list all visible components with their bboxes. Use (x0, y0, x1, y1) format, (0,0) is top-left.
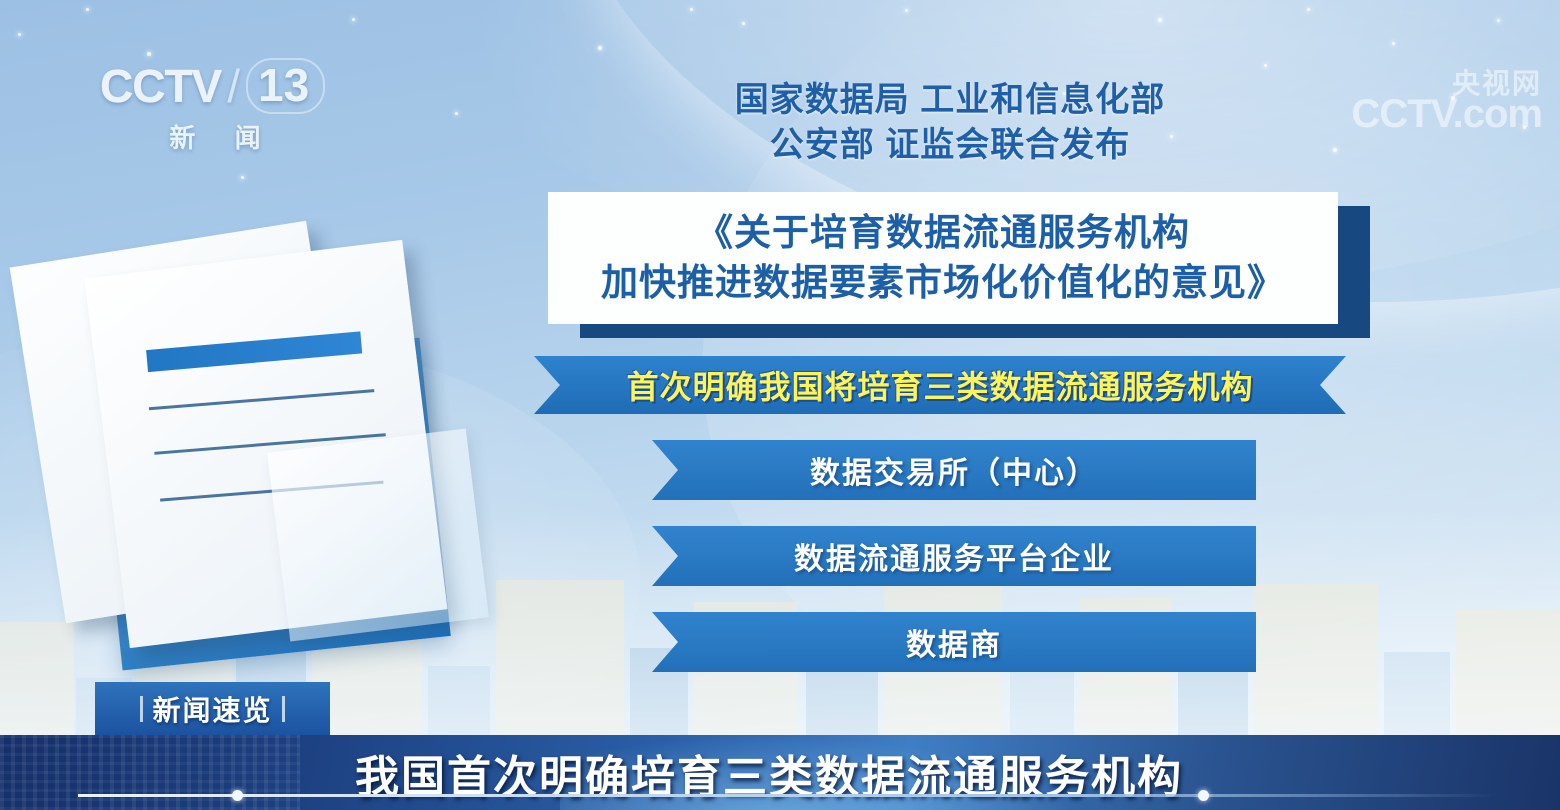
document-title-line-1: 《关于培育数据流通服务机构 (696, 208, 1190, 258)
sparkle-star (1333, 148, 1337, 152)
issuer-heading: 国家数据局 工业和信息化部 公安部 证监会联合发布 (620, 78, 1280, 168)
document-text-line (149, 389, 375, 410)
channel-slash: / (227, 59, 240, 113)
title-card-body: 《关于培育数据流通服务机构 加快推进数据要素市场化价值化的意见》 (548, 192, 1338, 324)
document-title-line-2: 加快推进数据要素市场化价值化的意见》 (601, 258, 1285, 308)
highlight-banner-label: 首次明确我国将培育三类数据流通服务机构 (626, 362, 1253, 408)
sparkle-star (1264, 64, 1267, 67)
highlight-banner: 首次明确我国将培育三类数据流通服务机构 (534, 356, 1346, 414)
ticker-underline (78, 794, 1498, 797)
watermark-en: CCTV.com (1351, 92, 1542, 137)
ticker-dot-left (232, 790, 243, 801)
sparkle-star (1497, 19, 1500, 22)
sparkle-star (905, 9, 908, 12)
institution-item-1-label: 数据交易所（中心） (810, 448, 1098, 492)
sparkle-star (455, 112, 458, 115)
segment-badge: 新闻速览 (95, 682, 330, 735)
sparkle-star (1307, 8, 1310, 11)
segment-rule-left (140, 696, 143, 722)
issuer-line-2: 公安部 证监会联合发布 (620, 123, 1280, 168)
news-ticker: 我国首次明确培育三类数据流通服务机构 (0, 735, 1560, 810)
segment-badge-label: 新闻速览 (152, 689, 272, 729)
sparkle-star (598, 46, 602, 50)
channel-logo: CCTV / 13 新 闻 (100, 58, 330, 168)
document-title-card: 《关于培育数据流通服务机构 加快推进数据要素市场化价值化的意见》 (548, 192, 1338, 324)
institution-item-2: 数据流通服务平台企业 (652, 526, 1256, 586)
channel-network-label: CCTV (100, 59, 221, 113)
document-heading-bar (146, 331, 362, 372)
institution-item-2-label: 数据流通服务平台企业 (794, 534, 1114, 578)
channel-number: 13 (246, 58, 325, 114)
ticker-texture (0, 735, 300, 810)
sparkle-star (241, 176, 244, 179)
network-watermark: 央视网 CCTV.com (1351, 62, 1542, 137)
institution-item-1: 数据交易所（中心） (652, 440, 1256, 500)
ticker-dot-right (1198, 790, 1209, 801)
broadcast-screen: CCTV / 13 新 闻 央视网 CCTV.com 国家数据局 工业和信息化部… (0, 0, 1560, 810)
sparkle-star (1392, 42, 1395, 45)
channel-subtitle: 新 闻 (100, 118, 330, 155)
sparkle-star (1158, 18, 1162, 22)
institution-item-3-label: 数据商 (906, 620, 1002, 664)
sparkle-star (690, 8, 693, 11)
sparkle-star (742, 22, 745, 25)
sparkle-star (147, 52, 151, 56)
segment-rule-right (282, 696, 285, 722)
sparkle-star (352, 18, 355, 21)
sparkle-star (86, 8, 89, 11)
institution-item-3: 数据商 (652, 612, 1256, 672)
issuer-line-1: 国家数据局 工业和信息化部 (620, 78, 1280, 123)
sparkle-star (18, 33, 21, 36)
document-illustration (28, 228, 528, 698)
document-glass-sheet (267, 429, 489, 642)
